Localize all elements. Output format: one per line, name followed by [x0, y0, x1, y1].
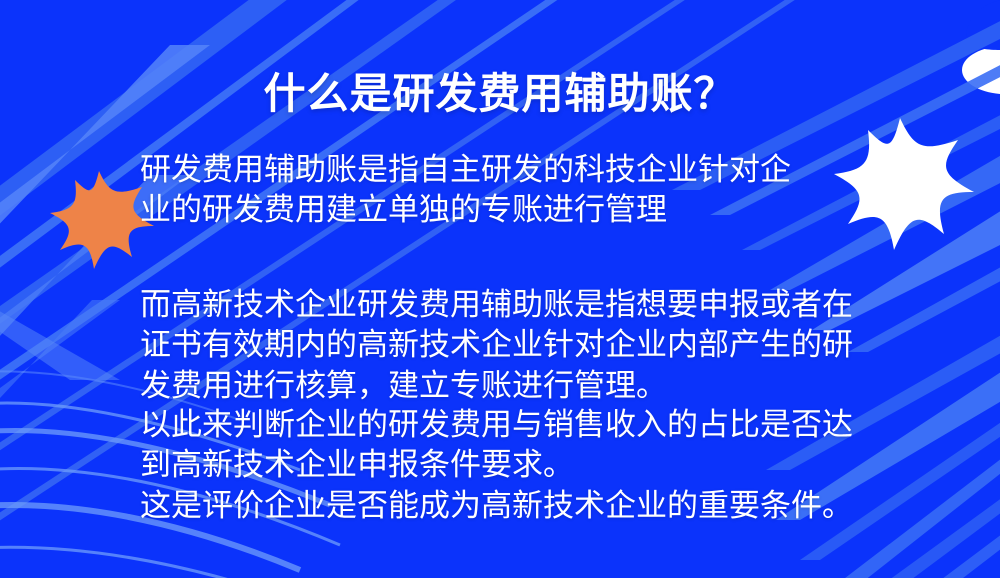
paragraph-definition: 研发费用辅助账是指自主研发的科技企业针对企 业的研发费用建立单独的专账进行管理 — [140, 150, 920, 231]
paragraph-line: 这是评价企业是否能成为高新技术企业的重要条件。 — [140, 486, 920, 526]
poster-canvas: 什么是研发费用辅助账？ 研发费用辅助账是指自主研发的科技企业针对企 业的研发费用… — [0, 0, 1000, 578]
paragraph-line: 证书有效期内的高新技术企业针对企业内部产生的研 — [140, 325, 920, 365]
paragraph-line: 以此来判断企业的研发费用与销售收入的占比是否达 — [140, 405, 920, 445]
content-layer: 什么是研发费用辅助账？ 研发费用辅助账是指自主研发的科技企业针对企 业的研发费用… — [0, 0, 1000, 578]
paragraph-line: 研发费用辅助账是指自主研发的科技企业针对企 — [140, 150, 920, 190]
paragraph-purpose: 以此来判断企业的研发费用与销售收入的占比是否达 到高新技术企业申报条件要求。 这… — [140, 405, 920, 526]
paragraph-line: 业的研发费用建立单独的专账进行管理 — [140, 190, 920, 230]
paragraph-line: 到高新技术企业申报条件要求。 — [140, 445, 920, 485]
paragraph-line: 发费用进行核算，建立专账进行管理。 — [140, 366, 920, 406]
paragraph-high-tech-definition: 而高新技术企业研发费用辅助账是指想要申报或者在 证书有效期内的高新技术企业针对企… — [140, 285, 920, 406]
paragraph-line: 而高新技术企业研发费用辅助账是指想要申报或者在 — [140, 285, 920, 325]
page-title: 什么是研发费用辅助账？ — [0, 68, 1000, 121]
